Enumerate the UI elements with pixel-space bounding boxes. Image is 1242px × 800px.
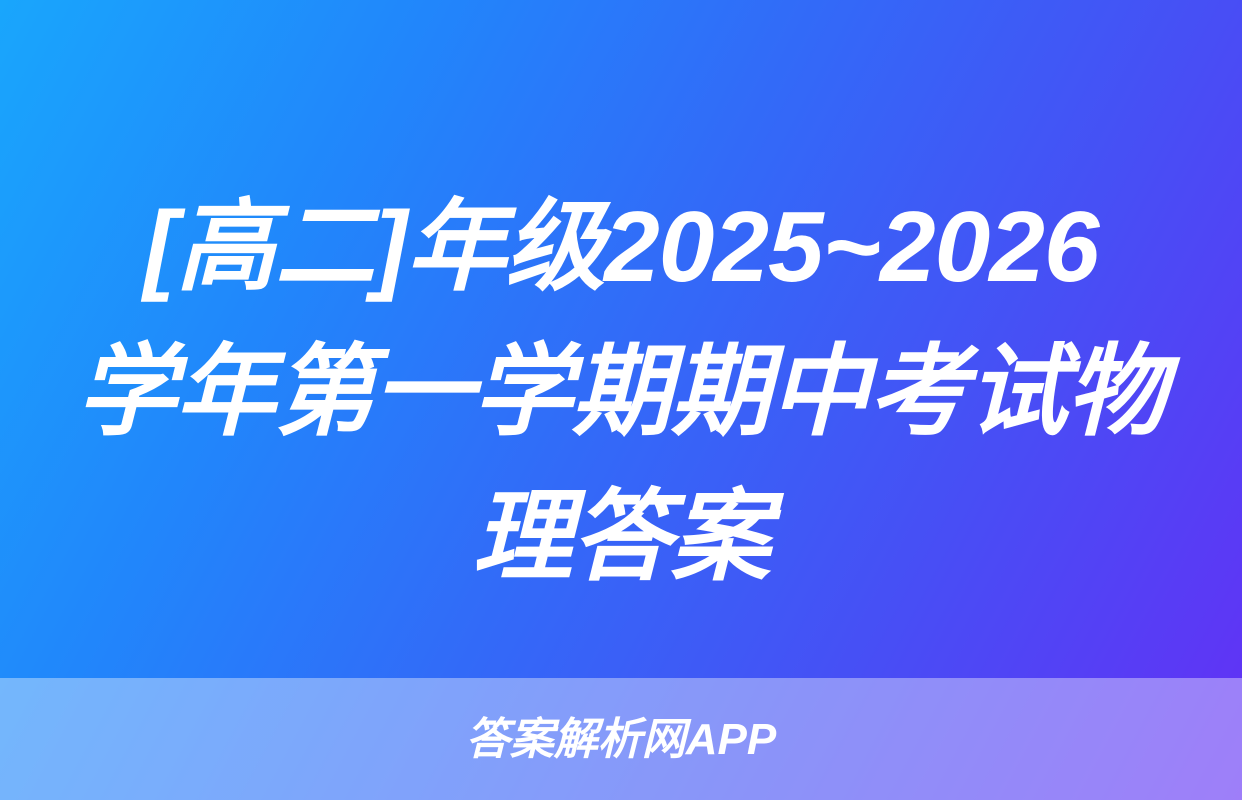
app-brand-label: 答案解析网APP <box>466 718 776 762</box>
title-line-3: 理答案 <box>40 465 1202 610</box>
title-line-2: 学年第一学期期中考试物 <box>40 320 1202 465</box>
footer-bar: 答案解析网APP <box>0 678 1242 800</box>
title-line-1: [高二]年级2025~2026 <box>40 175 1202 320</box>
poster-banner: [高二]年级2025~2026 学年第一学期期中考试物 理答案 答案解析网APP <box>0 0 1242 800</box>
title-block: [高二]年级2025~2026 学年第一学期期中考试物 理答案 <box>0 175 1242 635</box>
